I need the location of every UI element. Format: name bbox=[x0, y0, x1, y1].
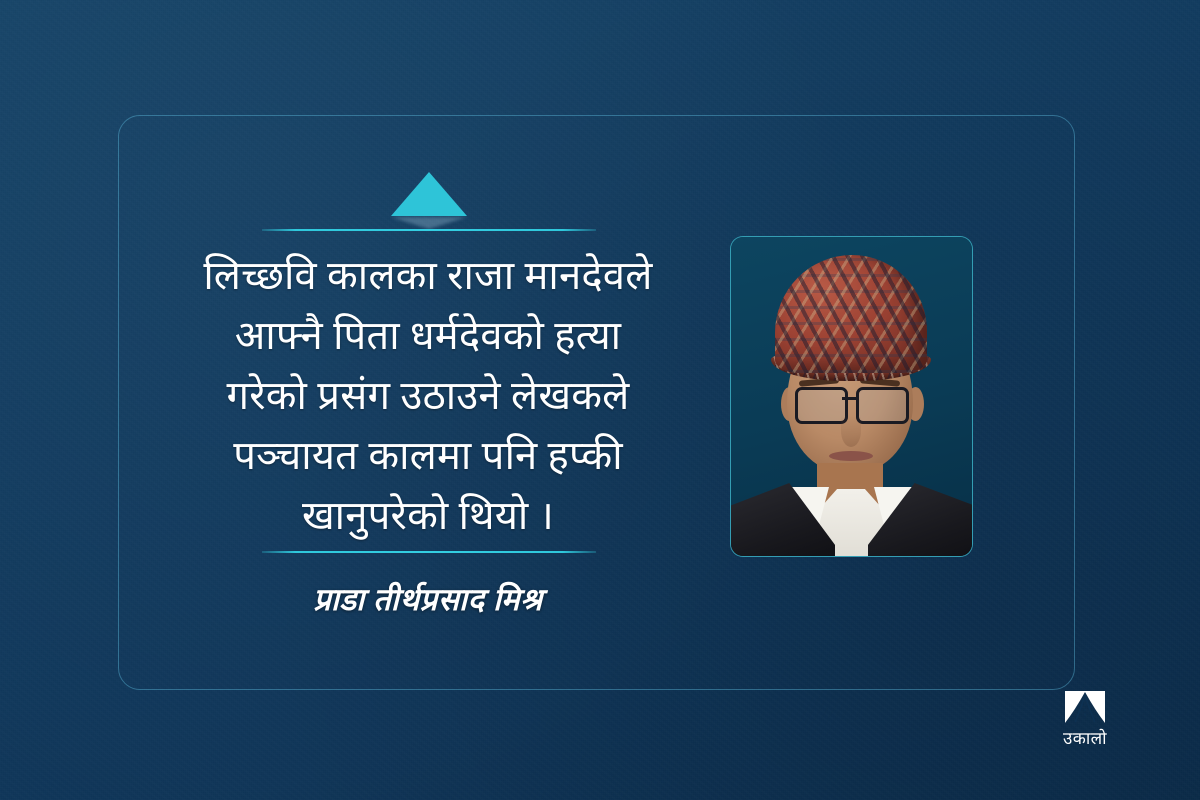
ukalo-logo[interactable]: उकालो bbox=[1054, 690, 1116, 749]
portrait-nose bbox=[841, 415, 861, 447]
ukalo-mountain-icon bbox=[1064, 690, 1106, 724]
portrait-photo bbox=[731, 237, 972, 556]
portrait-glasses-right bbox=[856, 387, 909, 424]
portrait-topi-cap bbox=[775, 255, 927, 373]
quote-card-canvas: लिच्छवि कालका राजा मानदेवले आफ्नै पिता ध… bbox=[0, 0, 1200, 800]
portrait-glasses-bridge bbox=[842, 397, 856, 400]
ukalo-logo-text: उकालो bbox=[1054, 726, 1116, 749]
divider-top bbox=[262, 229, 596, 231]
triangle-reflection-icon bbox=[391, 217, 467, 229]
triangle-ornament-icon bbox=[391, 172, 467, 216]
attribution-name: प्राडा तीर्थप्रसाद मिश्र bbox=[128, 578, 728, 620]
quote-text: लिच्छवि कालका राजा मानदेवले आफ्नै पिता ध… bbox=[128, 246, 728, 546]
divider-bottom bbox=[262, 551, 596, 553]
portrait-frame bbox=[730, 236, 973, 557]
portrait-mouth bbox=[829, 451, 873, 461]
